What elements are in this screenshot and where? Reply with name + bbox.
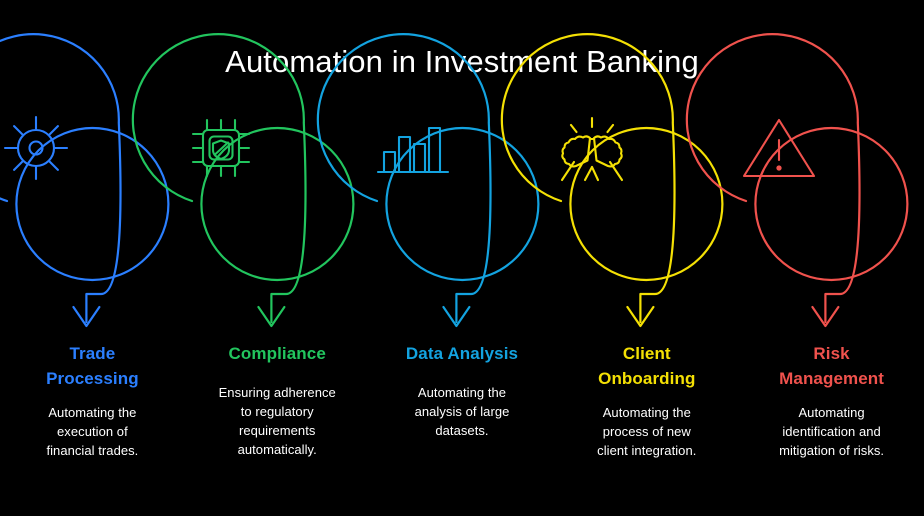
category-title-line: Onboarding — [554, 367, 739, 392]
text-block-client-onboarding: ClientOnboardingAutomating theprocess of… — [554, 342, 739, 460]
text-block-trade-processing: TradeProcessingAutomating theexecution o… — [0, 342, 185, 460]
bar-chart-icon — [370, 112, 555, 296]
category-description-line: automatically. — [185, 440, 370, 459]
page-title: Automation in Investment Banking — [0, 44, 924, 80]
category-description-line: client integration. — [554, 441, 739, 460]
category-description-trade-processing: Automating theexecution offinancial trad… — [0, 403, 185, 460]
category-description-line: analysis of large — [370, 402, 555, 421]
category-description-line: Automating — [739, 403, 924, 422]
chip-shield-icon — [185, 112, 370, 296]
category-description-line: requirements — [185, 421, 370, 440]
column-data-analysis: Data AnalysisAutomating theanalysis of l… — [370, 112, 555, 440]
column-client-onboarding: ClientOnboardingAutomating theprocess of… — [554, 112, 739, 460]
category-description-risk-management: Automatingidentification andmitigation o… — [739, 403, 924, 460]
category-title-trade-processing: TradeProcessing — [0, 342, 185, 391]
category-title-line: Trade — [0, 342, 185, 367]
column-trade-processing: TradeProcessingAutomating theexecution o… — [0, 112, 185, 460]
column-container: TradeProcessingAutomating theexecution o… — [0, 112, 924, 516]
category-description-line: to regulatory — [185, 402, 370, 421]
category-description-client-onboarding: Automating theprocess of newclient integ… — [554, 403, 739, 460]
category-description-data-analysis: Automating theanalysis of largedatasets. — [370, 383, 555, 440]
category-description-line: Automating the — [554, 403, 739, 422]
title-desc-spacer — [185, 367, 370, 383]
column-risk-management: RiskManagementAutomatingidentification a… — [739, 112, 924, 460]
title-desc-spacer — [739, 391, 924, 403]
title-desc-spacer — [554, 391, 739, 403]
text-block-compliance: ComplianceEnsuring adherenceto regulator… — [185, 342, 370, 459]
target-sun-icon — [0, 112, 185, 296]
badge-client-onboarding — [554, 112, 739, 342]
category-title-line: Risk — [739, 342, 924, 367]
category-title-line: Compliance — [185, 342, 370, 367]
category-title-line: Client — [554, 342, 739, 367]
category-title-client-onboarding: ClientOnboarding — [554, 342, 739, 391]
badge-trade-processing — [0, 112, 185, 342]
warning-triangle-icon — [739, 112, 924, 296]
title-desc-spacer — [370, 367, 555, 383]
category-description-line: execution of — [0, 422, 185, 441]
category-description-line: Automating the — [370, 383, 555, 402]
badge-data-analysis — [370, 112, 555, 342]
category-description-line: datasets. — [370, 421, 555, 440]
category-title-risk-management: RiskManagement — [739, 342, 924, 391]
badge-compliance — [185, 112, 370, 342]
category-description-line: identification and — [739, 422, 924, 441]
category-title-line: Management — [739, 367, 924, 392]
badge-risk-management — [739, 112, 924, 342]
title-desc-spacer — [0, 391, 185, 403]
category-title-data-analysis: Data Analysis — [370, 342, 555, 367]
category-description-line: Automating the — [0, 403, 185, 422]
category-title-compliance: Compliance — [185, 342, 370, 367]
category-description-line: process of new — [554, 422, 739, 441]
category-description-line: financial trades. — [0, 441, 185, 460]
text-block-risk-management: RiskManagementAutomatingidentification a… — [739, 342, 924, 460]
category-title-line: Data Analysis — [370, 342, 555, 367]
category-description-compliance: Ensuring adherenceto regulatoryrequireme… — [185, 383, 370, 459]
column-compliance: ComplianceEnsuring adherenceto regulator… — [185, 112, 370, 459]
text-block-data-analysis: Data AnalysisAutomating theanalysis of l… — [370, 342, 555, 440]
category-description-line: mitigation of risks. — [739, 441, 924, 460]
category-description-line: Ensuring adherence — [185, 383, 370, 402]
category-title-line: Processing — [0, 367, 185, 392]
fist-bump-icon — [554, 112, 739, 296]
